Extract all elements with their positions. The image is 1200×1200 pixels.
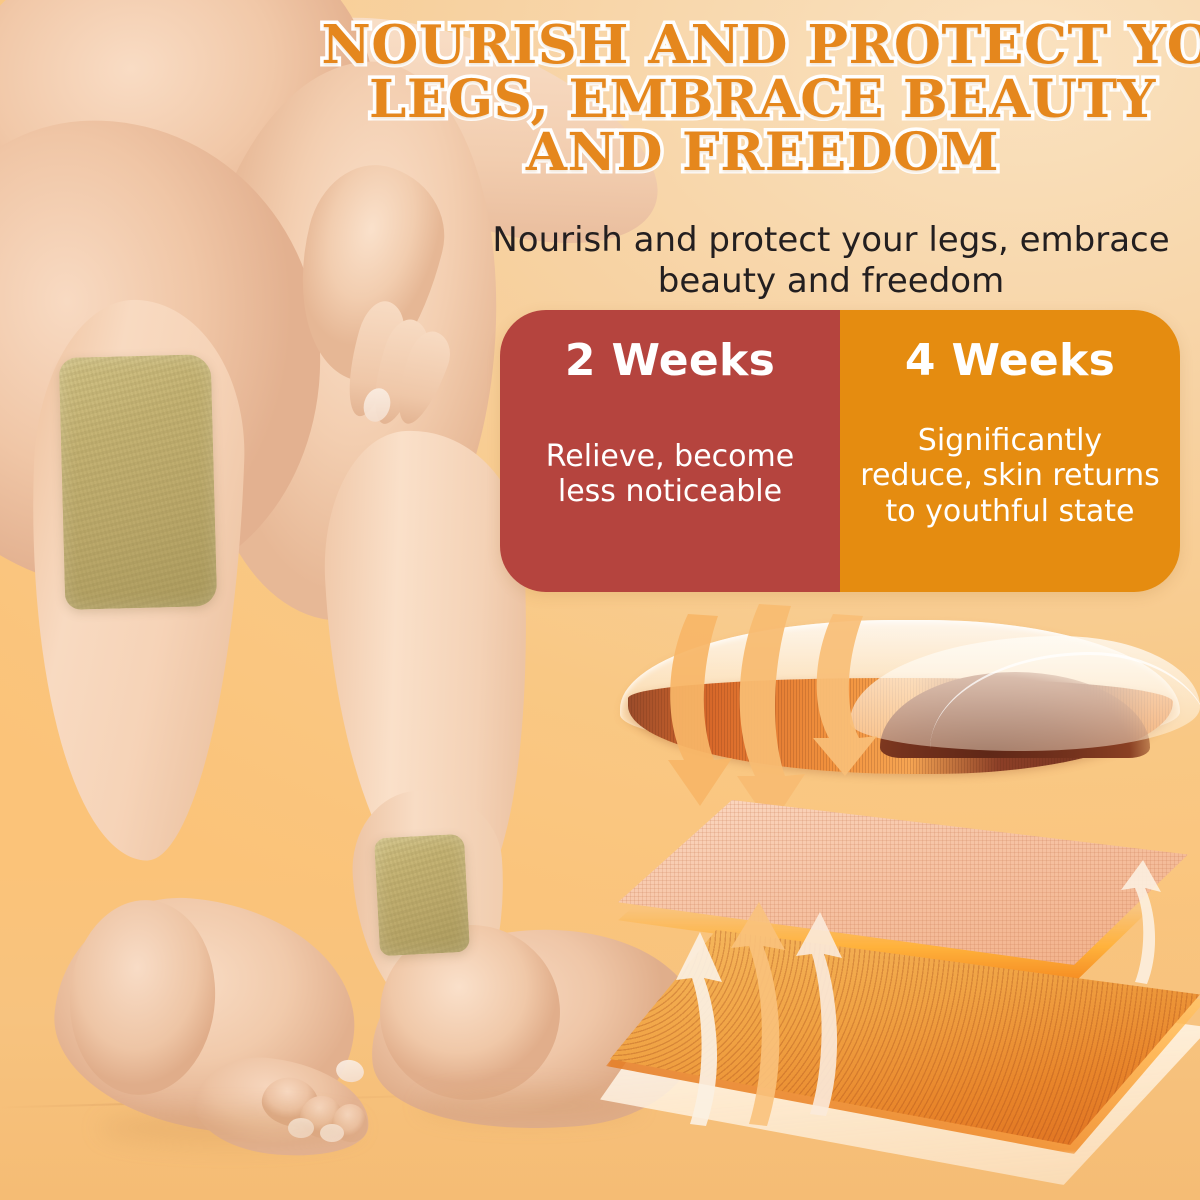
- pane-title-2-weeks: 2 Weeks: [565, 338, 775, 384]
- advertisement-canvas: NOURISH AND PROTECT YOUR LEGS, EMBRACE B…: [0, 0, 1200, 1200]
- down-arrow-3: [805, 610, 895, 780]
- up-arrow-3: [790, 910, 860, 1120]
- pane-title-4-weeks: 4 Weeks: [905, 338, 1115, 384]
- pane-body-2-weeks: Relieve, become less noticeable: [518, 411, 822, 546]
- headline-line-2: LEGS, EMBRACE BEAUTY: [321, 73, 1200, 127]
- result-pane-4-weeks: 4 Weeks Significantly reduce, skin retur…: [840, 310, 1180, 592]
- subtitle-line-1: Nourish and protect your legs, embrace: [470, 220, 1192, 261]
- subtitle: Nourish and protect your legs, embrace b…: [470, 220, 1192, 303]
- pane-body-4-weeks: Significantly reduce, skin returns to yo…: [858, 409, 1162, 547]
- up-arrow-right: [1115, 858, 1179, 988]
- result-pane-2-weeks: 2 Weeks Relieve, become less noticeable: [500, 310, 840, 592]
- ankle-patch: [374, 834, 470, 957]
- headline-line-3: AND FREEDOM: [321, 126, 1200, 180]
- subtitle-line-2: beauty and freedom: [470, 261, 1192, 302]
- page-title: NOURISH AND PROTECT YOUR LEGS, EMBRACE B…: [330, 18, 1195, 180]
- calf-patch: [59, 354, 218, 610]
- exploded-patch-diagram: [600, 600, 1200, 1120]
- leg-shadow-left: [100, 1110, 360, 1146]
- headline-line-1: NOURISH AND PROTECT YOUR: [321, 18, 1200, 73]
- results-timeline-box: 2 Weeks Relieve, become less noticeable …: [500, 310, 1180, 592]
